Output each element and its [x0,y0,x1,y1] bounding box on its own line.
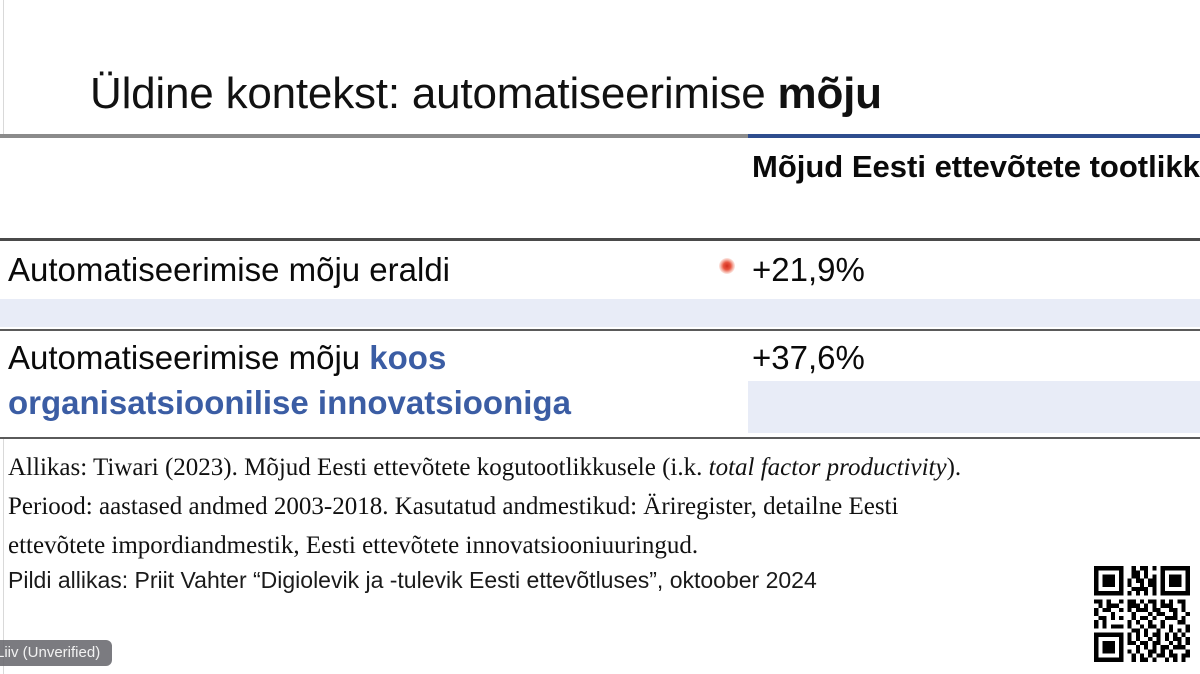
row-value: +21,9% [752,247,865,292]
source-line-2: Periood: aastased andmed 2003-2018. Kasu… [8,487,1193,526]
table-row: Automatiseerimise mõju eraldi +21,9% [0,241,1200,329]
row-value: +37,6% [752,335,865,380]
cursor-highlight-dot [719,258,735,274]
row-label-text: Automatiseerimise mõju eraldi [8,251,450,288]
source-line-1-part-b: ). [947,454,962,481]
source-line-1-italic: total factor productivity [709,454,947,481]
table-row: Automatiseerimise mõju koos organisatsio… [0,331,1200,437]
source-line-1-part-a: Allikas: Tiwari (2023). Mõjud Eesti ette… [8,454,709,481]
table-header-row: Mõjud Eesti ettevõtete tootlikkusele, % … [0,138,1200,238]
picture-source-line: Pildi allikas: Priit Vahter “Digiolevik … [8,565,817,595]
row-label-text: Automatiseerimise mõju [8,339,369,376]
row-shading-band [748,381,1200,433]
column-header-impact: Mõjud Eesti ettevõtete tootlikkusele, % … [752,146,1200,187]
source-footnote: Allikas: Tiwari (2023). Mõjud Eesti ette… [8,448,1193,565]
page-title: Üldine kontekst: automatiseerimise mõju [90,68,1170,120]
row-shading-band [0,299,1200,327]
page-title-emphasis: mõju [778,69,882,118]
table-bottom-rule [0,437,1200,439]
participant-name-badge: Liiv (Unverified) [0,640,112,666]
participant-name-label: Liiv (Unverified) [0,640,100,666]
qr-code-icon[interactable] [1090,562,1194,666]
results-table: Mõjud Eesti ettevõtete tootlikkusele, % … [0,134,1200,439]
source-line-1: Allikas: Tiwari (2023). Mõjud Eesti ette… [8,448,1193,487]
presentation-slide: Üldine kontekst: automatiseerimise mõju … [0,0,1200,674]
source-line-3: ettevõtete impordiandmestik, Eesti ettev… [8,526,1193,565]
row-label: Automatiseerimise mõju koos organisatsio… [8,335,748,425]
page-title-main: Üldine kontekst: automatiseerimise [90,69,778,118]
row-label: Automatiseerimise mõju eraldi [8,247,748,292]
